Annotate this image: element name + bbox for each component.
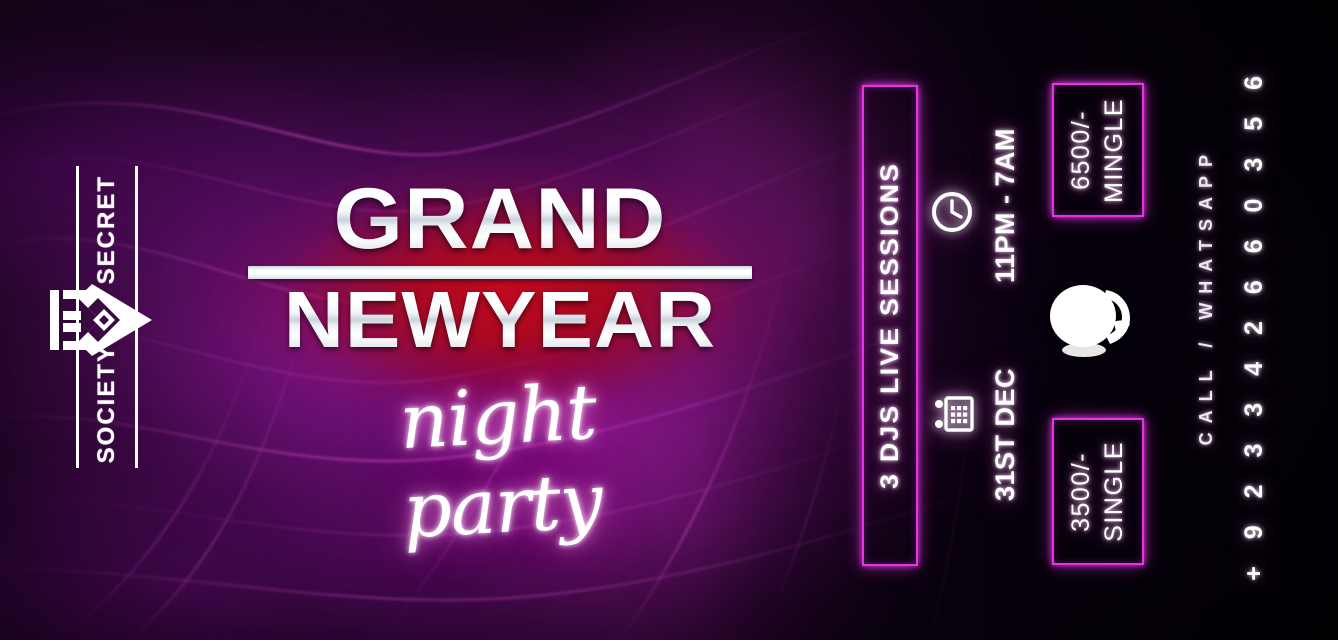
white-badge-emblem [1048,278,1140,360]
contact-label: CALL / WHATSAPP [1196,146,1217,445]
brand-word-bottom-wrap: SOCIETY [76,344,138,464]
price-box-mingle: MINGLE 6500/- [1052,83,1144,217]
price-stack-mingle: MINGLE 6500/- [1067,98,1129,203]
title-line-newyear: NEWYEAR [236,285,764,355]
calendar-icon [932,392,976,441]
main-title: GRAND NEWYEAR [246,182,754,355]
brand-logo: SECRET [76,166,138,468]
brand-word-top: SECRET [93,175,121,284]
event-date: 31ST DEC [990,368,1021,501]
price-amount-mingle: 6500/- [1067,110,1096,190]
price-amount-single: 3500/- [1067,452,1096,532]
event-time: 11PM - 7AM [990,128,1021,283]
price-box-single: SINGLE 3500/- [1052,418,1144,565]
title-script-night-party: night party [296,362,705,561]
contact-phone-number[interactable]: + 9 2 3 3 4 2 6 6 0 3 5 6 [1240,66,1269,581]
event-flyer: SECRET [0,0,1338,640]
title-line-grand: GRAND [236,182,764,258]
dj-sessions-box: 3 DJS LIVE SESSIONS [862,85,918,566]
price-tier-mingle: MINGLE [1100,98,1129,203]
brand-word-top-wrap: SECRET [76,170,138,290]
clock-icon [930,190,974,239]
brand-word-bottom: SOCIETY [93,344,121,463]
price-tier-single: SINGLE [1100,441,1129,542]
dj-sessions-label: 3 DJS LIVE SESSIONS [876,162,905,489]
price-stack-single: SINGLE 3500/- [1067,441,1129,542]
